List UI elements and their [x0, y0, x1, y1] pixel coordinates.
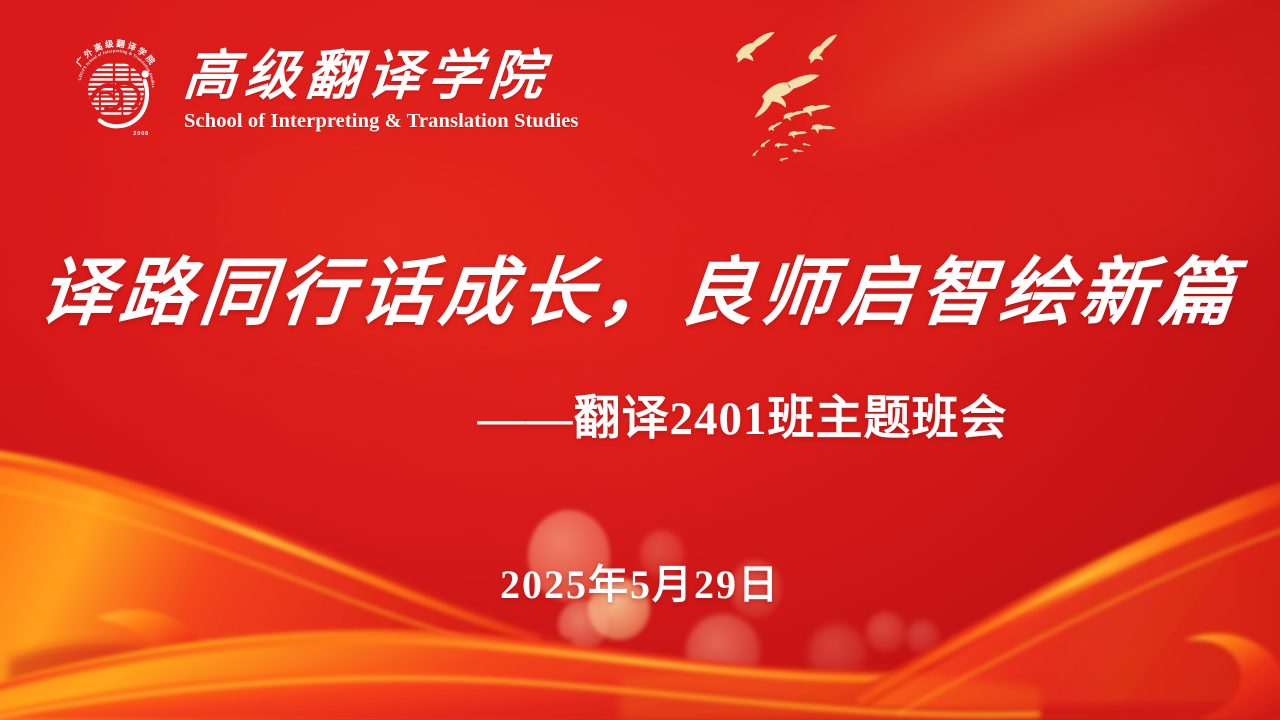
gdufs-sits-emblem-icon: 广外高级翻译学院 GDUFS School of Interpreting & … — [62, 34, 170, 142]
event-date: 2025年5月29日 — [0, 552, 1280, 610]
poster-subtitle: ——翻译2401班主题班会 — [0, 394, 1280, 446]
school-logo: 广外高级翻译学院 GDUFS School of Interpreting & … — [62, 34, 579, 142]
school-name-en: School of Interpreting & Translation Stu… — [184, 110, 579, 133]
poster-headline: 译路同行话成长，良师启智绘新篇 — [0, 256, 1280, 330]
poster-slide: 广外高级翻译学院 GDUFS School of Interpreting & … — [0, 0, 1280, 720]
flying-doves-icon — [718, 26, 848, 176]
school-name-cn: 高级翻译学院 — [181, 47, 552, 104]
school-wordmark: 高级翻译学院 School of Interpreting & Translat… — [184, 43, 579, 132]
svg-text:2008: 2008 — [133, 131, 149, 137]
